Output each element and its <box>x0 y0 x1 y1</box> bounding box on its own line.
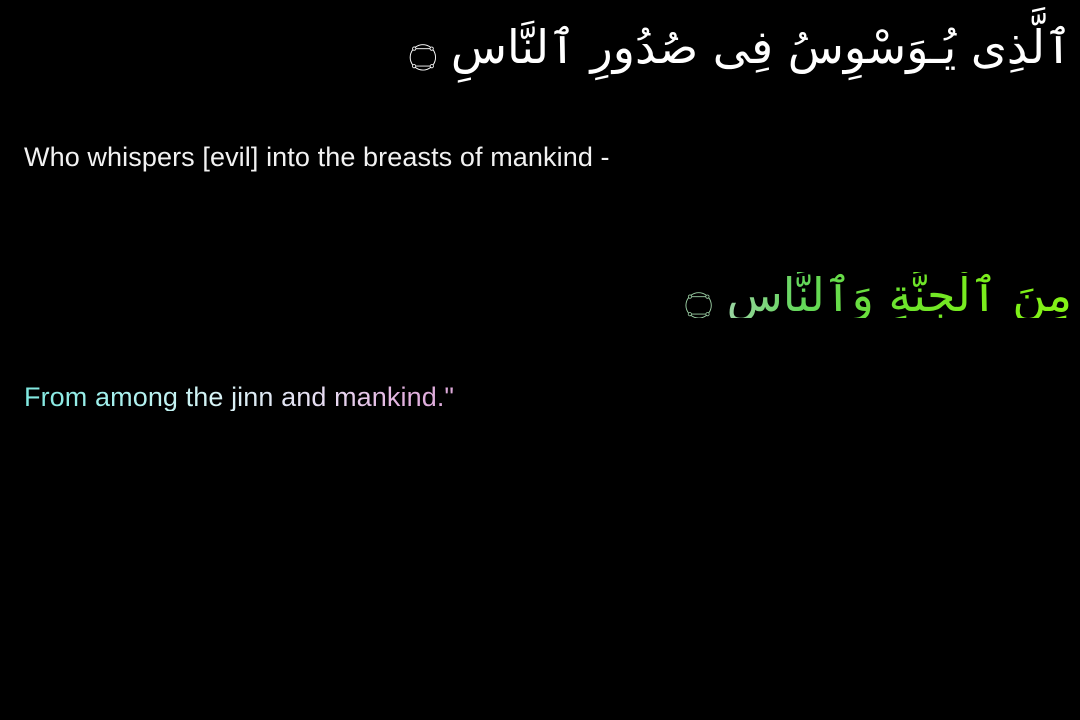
arabic-verse-line-5: ٱلَّذِى يُـوَسْوِسُ فِى صُدُورِ ٱلنَّاسِ… <box>409 24 1072 70</box>
english-translation-line-5: Who whispers [evil] into the breasts of … <box>24 144 610 171</box>
subtitle-overlay-screen: ٱلَّذِى يُـوَسْوِسُ فِى صُدُورِ ٱلنَّاسِ… <box>0 0 1080 720</box>
arabic-verse-line-6: مِنَ ٱلْجِنَّةِ وَٱلنَّاسِ ۝ <box>685 272 1072 318</box>
english-translation-line-6: From among the jinn and mankind." <box>24 384 454 411</box>
